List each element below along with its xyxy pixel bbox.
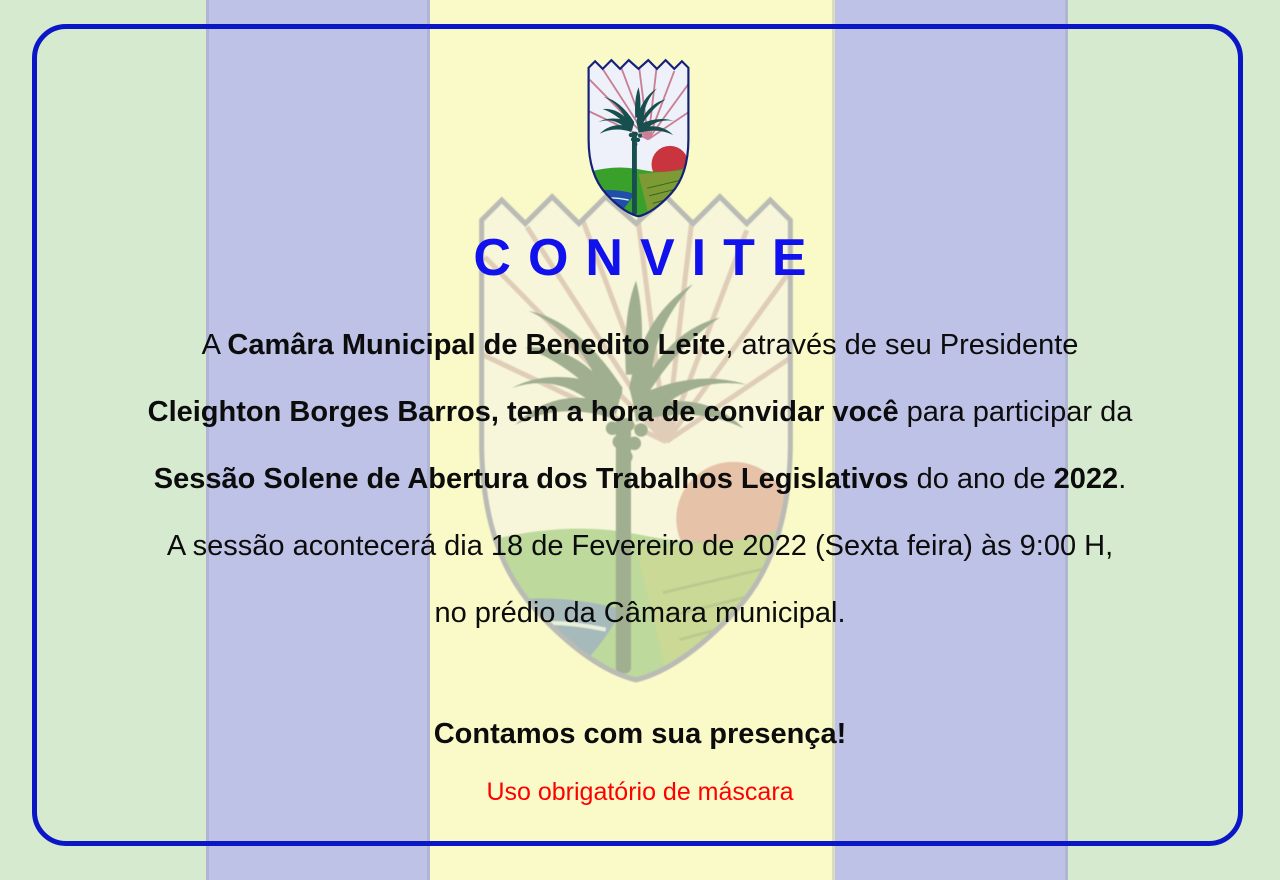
page-title: CONVITE (0, 232, 1280, 284)
body-line-3: Sessão Solene de Abertura dos Trabalhos … (50, 446, 1230, 513)
closing-statement: Contamos com sua presença! (0, 718, 1280, 751)
body-line-4-datetime: A sessão acontecerá dia 18 de Fevereiro … (50, 513, 1230, 580)
body-line-5-venue: no prédio da Câmara municipal. (50, 580, 1230, 647)
body-line-3-year: 2022 (1054, 463, 1119, 495)
invitation-content: CONVITE A Camâra Municipal de Benedito L… (0, 0, 1280, 880)
body-line-3-part-d: . (1118, 463, 1126, 495)
body-line-2: Cleighton Borges Barros, tem a hora de c… (50, 379, 1230, 446)
body-line-1-part-c: , através de seu Presidente (725, 329, 1078, 361)
invitation-page: CONVITE A Camâra Municipal de Benedito L… (0, 0, 1280, 880)
body-line-3-event: Sessão Solene de Abertura dos Trabalhos … (154, 463, 909, 495)
body-line-1-issuer: Camâra Municipal de Benedito Leite (227, 329, 725, 361)
body-line-2-part-b: para participar da (899, 396, 1133, 428)
invitation-body: A Camâra Municipal de Benedito Leite, at… (50, 312, 1230, 647)
body-line-3-part-b: do ano de (909, 463, 1054, 495)
body-line-1-part-a: A (202, 329, 228, 361)
body-line-2-president: Cleighton Borges Barros, tem a hora de c… (148, 396, 899, 428)
mask-requirement-notice: Uso obrigatório de máscara (0, 778, 1280, 807)
body-line-1: A Camâra Municipal de Benedito Leite, at… (50, 312, 1230, 379)
